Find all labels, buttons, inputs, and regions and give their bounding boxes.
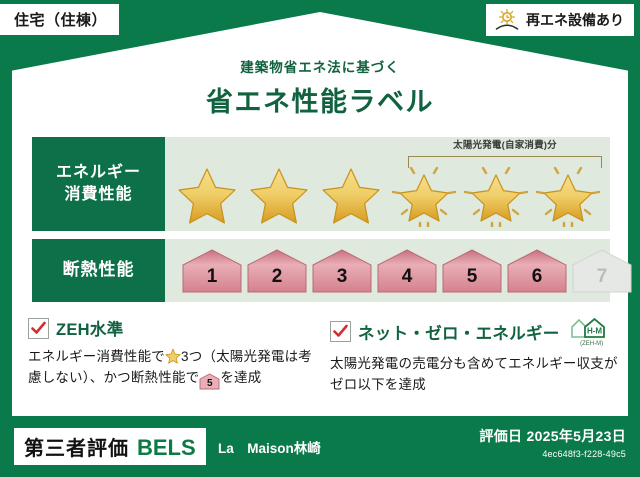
insulation-level-value: 7 <box>597 266 608 294</box>
insulation-level-scale: 1 2 3 4 5 <box>181 247 633 294</box>
insulation-level-badge: 6 <box>506 247 568 294</box>
building-type-tag: 住宅（住棟） <box>0 4 119 35</box>
insulation-level-value: 4 <box>402 266 413 294</box>
insulation-level-badge-inactive: 7 <box>571 247 633 294</box>
energy-performance-label: 住宅（住棟） 再エネ設備あり 建築物省エネ法に基づく 省エネ性能ラベル エネルギ… <box>0 0 640 477</box>
energy-label-line2: 消費性能 <box>64 184 132 206</box>
insulation-level-badge: 2 <box>246 247 308 294</box>
energy-star-panel: 太陽光発電(自家消費)分 <box>165 137 610 231</box>
evaluation-info: 評価日 2025年5月23日 4ec648f3-f228-49c5 <box>479 426 626 459</box>
label-title: 省エネ性能ラベル <box>0 80 640 119</box>
solar-bracket-caption: 太陽光発電(自家消費)分 <box>403 137 607 151</box>
claim-net-zero: ネット・ゼロ・エネルギー H-M (ZEH-M) 太陽光発電の売電分も含めてエネ… <box>330 316 618 396</box>
claim-zeh: ZEH水準 エネルギー消費性能で3つ（太陽光発電は考慮しない）、かつ断熱性能で5… <box>28 316 316 396</box>
claims-section: ZEH水準 エネルギー消費性能で3つ（太陽光発電は考慮しない）、かつ断熱性能で5… <box>28 316 618 396</box>
label-subtitle: 建築物省エネ法に基づく <box>0 56 640 76</box>
star-icon <box>165 348 181 364</box>
claim-zeh-text-3: を達成 <box>220 370 261 385</box>
insulation-level-value: 3 <box>337 266 348 294</box>
star-solar <box>534 165 602 227</box>
claim-zeh-body: エネルギー消費性能で3つ（太陽光発電は考慮しない）、かつ断熱性能で5を達成 <box>28 347 316 390</box>
insulation-level-badge: 4 <box>376 247 438 294</box>
bels-en-label: BELS <box>137 435 196 461</box>
bels-certification-box: 第三者評価 BELS <box>14 428 206 465</box>
claim-net-zero-body: 太陽光発電の売電分も含めてエネルギー収支がゼロ以下を達成 <box>330 354 618 396</box>
insulation-level-inline-value: 5 <box>199 373 220 394</box>
renewable-energy-badge: 再エネ設備あり <box>486 4 634 36</box>
checkbox-checked-icon <box>330 321 351 342</box>
star-filled <box>173 165 241 227</box>
insulation-level-panel: 1 2 3 4 5 <box>165 239 610 302</box>
claim-net-zero-header: ネット・ゼロ・エネルギー H-M (ZEH-M) <box>330 316 618 347</box>
claim-net-zero-title: ネット・ゼロ・エネルギー <box>358 320 560 344</box>
insulation-level-badge: 1 <box>181 247 243 294</box>
star-rating <box>165 165 610 227</box>
zeh-m-house-icon: H-M <box>569 316 615 340</box>
building-name: La Maison林崎 <box>218 437 321 457</box>
label-title-block: 建築物省エネ法に基づく 省エネ性能ラベル <box>0 56 640 119</box>
star-solar <box>390 165 458 227</box>
zeh-m-logo: H-M (ZEH-M) <box>569 316 615 347</box>
insulation-performance-label-box: 断熱性能 <box>32 239 165 302</box>
insulation-level-badge: 3 <box>311 247 373 294</box>
star-solar <box>462 165 530 227</box>
insulation-level-value: 1 <box>207 266 218 294</box>
claim-zeh-title: ZEH水準 <box>56 316 124 340</box>
evaluation-date: 評価日 2025年5月23日 <box>479 426 626 446</box>
energy-performance-label-box: エネルギー 消費性能 <box>32 137 165 231</box>
claim-zeh-text-1: エネルギー消費性能で <box>28 349 165 364</box>
insulation-label: 断熱性能 <box>63 259 135 282</box>
energy-label-line1: エネルギー <box>56 162 141 184</box>
checkbox-checked-icon <box>28 318 49 339</box>
label-footer: 第三者評価 BELS La Maison林崎 評価日 2025年5月23日 4e… <box>0 416 640 477</box>
svg-text:H-M: H-M <box>587 327 602 336</box>
insulation-level-inline-badge: 5 <box>199 373 220 390</box>
insulation-level-value: 6 <box>532 266 543 294</box>
renewable-energy-badge-label: 再エネ設備あり <box>526 10 624 30</box>
insulation-level-badge: 5 <box>441 247 503 294</box>
insulation-level-value: 5 <box>467 266 478 294</box>
claim-zeh-header: ZEH水準 <box>28 316 316 340</box>
sun-icon <box>494 8 520 32</box>
bels-jp-label: 第三者評価 <box>24 432 129 461</box>
evaluation-id: 4ec648f3-f228-49c5 <box>479 449 626 459</box>
star-filled <box>245 165 313 227</box>
insulation-level-value: 2 <box>272 266 283 294</box>
insulation-performance-row: 断熱性能 1 2 3 4 <box>32 239 610 302</box>
zeh-m-logo-caption: (ZEH-M) <box>580 341 603 347</box>
energy-performance-row: エネルギー 消費性能 太陽光発電(自家消費)分 <box>32 137 610 231</box>
star-filled <box>317 165 385 227</box>
